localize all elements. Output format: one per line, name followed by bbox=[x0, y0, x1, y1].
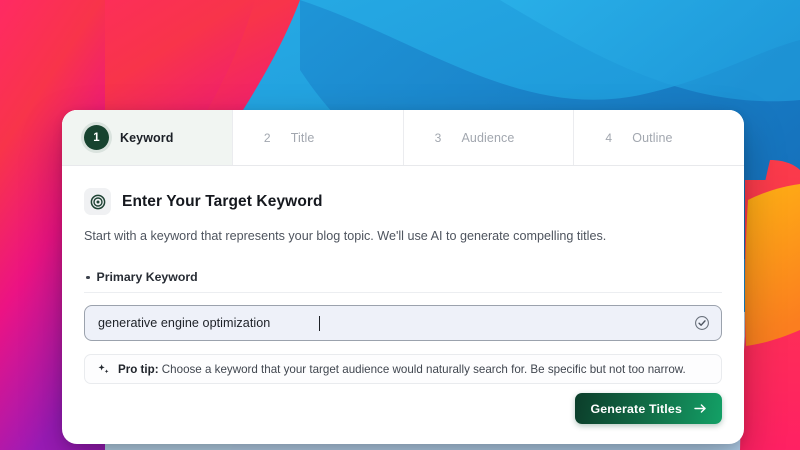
pro-tip-body: Choose a keyword that your target audien… bbox=[159, 363, 686, 376]
step-label-outline: Outline bbox=[632, 131, 672, 145]
step-badge-2: 2 bbox=[255, 125, 280, 150]
text-caret bbox=[319, 316, 320, 331]
card-body: Enter Your Target Keyword Start with a k… bbox=[62, 166, 744, 444]
step-indicator: 1 Keyword 2 Title 3 Audience 4 Outline bbox=[62, 110, 744, 166]
step-badge-4: 4 bbox=[596, 125, 621, 150]
keyword-input-wrapper[interactable] bbox=[84, 305, 722, 341]
step-tab-keyword[interactable]: 1 Keyword bbox=[62, 110, 233, 165]
step-badge-3: 3 bbox=[426, 125, 451, 150]
pro-tip-text: Pro tip: Choose a keyword that your targ… bbox=[118, 363, 686, 376]
generate-titles-label: Generate Titles bbox=[590, 402, 682, 416]
sparkles-icon bbox=[97, 363, 110, 376]
target-icon bbox=[84, 188, 111, 215]
wizard-card: 1 Keyword 2 Title 3 Audience 4 Outline bbox=[62, 110, 744, 444]
section-description: Start with a keyword that represents you… bbox=[84, 227, 722, 245]
step-tab-title[interactable]: 2 Title bbox=[233, 110, 404, 165]
step-label-title: Title bbox=[291, 131, 315, 145]
keyword-field-label: Primary Keyword bbox=[97, 270, 198, 284]
check-circle-icon bbox=[694, 315, 710, 331]
field-label-row: Primary Keyword bbox=[84, 270, 722, 293]
arrow-right-icon bbox=[694, 403, 707, 414]
section-header: Enter Your Target Keyword bbox=[84, 188, 722, 215]
page-title: Enter Your Target Keyword bbox=[122, 193, 323, 211]
step-tab-audience[interactable]: 3 Audience bbox=[404, 110, 575, 165]
step-label-audience: Audience bbox=[462, 131, 515, 145]
step-badge-1: 1 bbox=[84, 125, 109, 150]
card-footer: Generate Titles bbox=[84, 393, 722, 444]
keyword-input[interactable] bbox=[98, 306, 694, 340]
pro-tip-banner: Pro tip: Choose a keyword that your targ… bbox=[84, 354, 722, 384]
bullet-icon bbox=[86, 276, 90, 280]
step-tab-outline[interactable]: 4 Outline bbox=[574, 110, 744, 165]
keyword-field-block: Primary Keyword bbox=[84, 270, 722, 384]
step-label-keyword: Keyword bbox=[120, 131, 174, 145]
pro-tip-prefix: Pro tip: bbox=[118, 363, 159, 376]
generate-titles-button[interactable]: Generate Titles bbox=[575, 393, 722, 424]
